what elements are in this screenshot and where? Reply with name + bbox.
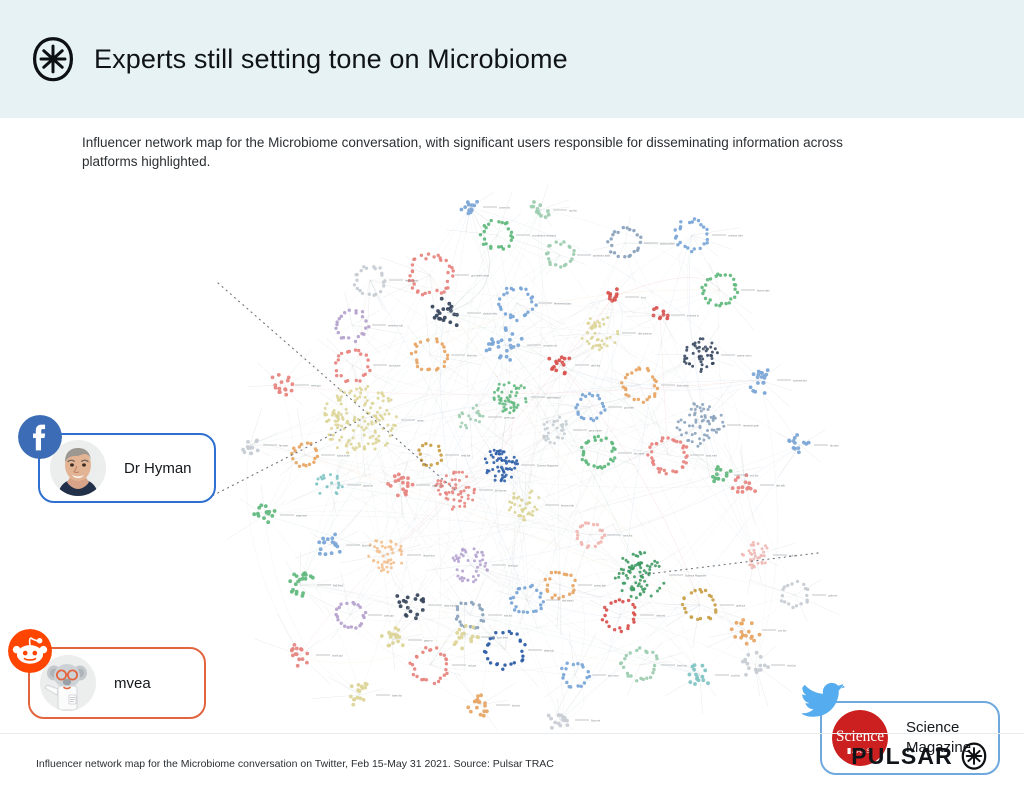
svg-text:spice.route: spice.route bbox=[337, 454, 350, 458]
page-header: Experts still setting tone on Microbiome bbox=[0, 0, 1024, 118]
svg-text:pale.net: pale.net bbox=[828, 594, 838, 598]
footer-logo: PULSAR bbox=[851, 742, 988, 770]
callout-label-mvea: mvea bbox=[114, 674, 151, 693]
svg-text:paleo.net: paleo.net bbox=[432, 484, 443, 488]
svg-text:south.gut: south.gut bbox=[332, 654, 343, 658]
svg-text:eco.bio: eco.bio bbox=[750, 474, 759, 478]
svg-text:nature.micro: nature.micro bbox=[737, 354, 752, 358]
avatar-koala-mvea bbox=[40, 655, 96, 711]
svg-text:diet.science: diet.science bbox=[638, 332, 652, 336]
svg-text:floor.net: floor.net bbox=[591, 719, 601, 723]
svg-text:pubmed.bot: pubmed.bot bbox=[793, 379, 807, 383]
svg-text:pro.biome: pro.biome bbox=[389, 364, 401, 368]
twitter-bird-icon bbox=[798, 677, 850, 725]
svg-text:base.bio: base.bio bbox=[392, 694, 402, 698]
svg-text:gold.gut: gold.gut bbox=[736, 604, 746, 608]
svg-text:west.gut: west.gut bbox=[311, 384, 321, 388]
svg-text:far.west: far.west bbox=[279, 444, 288, 448]
svg-text:plant.based: plant.based bbox=[547, 396, 561, 400]
svg-text:grain.io: grain.io bbox=[424, 639, 433, 643]
facebook-icon bbox=[18, 415, 62, 459]
svg-text:bio.news: bio.news bbox=[634, 452, 645, 456]
svg-text:grey.matter: grey.matter bbox=[589, 429, 602, 433]
svg-text:probiotics.daily: probiotics.daily bbox=[593, 254, 611, 258]
svg-text:corn.feed: corn.feed bbox=[497, 636, 508, 640]
svg-text:recipe.box: recipe.box bbox=[423, 554, 436, 558]
svg-text:mist.bio: mist.bio bbox=[787, 664, 796, 668]
svg-text:red.gut: red.gut bbox=[468, 664, 476, 668]
svg-text:vit.d: vit.d bbox=[641, 296, 646, 300]
network-cluster-labels: microbiome.researchgut.health.newsprobio… bbox=[263, 206, 839, 723]
svg-text:data.micro: data.micro bbox=[444, 604, 457, 608]
svg-text:vital.red: vital.red bbox=[656, 614, 666, 618]
svg-text:ferment.lab: ferment.lab bbox=[561, 504, 575, 508]
svg-text:trial.watch: trial.watch bbox=[562, 599, 574, 603]
svg-text:nutrition.wire: nutrition.wire bbox=[728, 234, 743, 238]
svg-text:Science Magazine: Science Magazine bbox=[537, 464, 559, 468]
svg-text:far.east: far.east bbox=[830, 444, 839, 448]
svg-text:fiber.first: fiber.first bbox=[467, 354, 477, 358]
footer-caption: Influencer network map for the Microbiom… bbox=[36, 758, 554, 770]
svg-text:fresh.bio: fresh.bio bbox=[677, 664, 688, 668]
svg-text:biome.labs: biome.labs bbox=[757, 289, 770, 293]
svg-text:rose.bio: rose.bio bbox=[623, 534, 633, 538]
svg-text:research.gate: research.gate bbox=[743, 424, 759, 428]
reddit-icon bbox=[8, 629, 52, 673]
svg-text:clinical.trials: clinical.trials bbox=[483, 312, 498, 316]
svg-text:deep.bio: deep.bio bbox=[544, 649, 555, 653]
svg-text:keto.circle: keto.circle bbox=[677, 384, 689, 388]
svg-text:top.bio: top.bio bbox=[569, 209, 577, 213]
svg-text:stat.bio: stat.bio bbox=[504, 614, 513, 618]
svg-text:microbiome.research: microbiome.research bbox=[532, 234, 557, 238]
svg-text:Dr Hyman: Dr Hyman bbox=[495, 489, 507, 493]
svg-text:Science Magazine: Science Magazine bbox=[685, 574, 707, 578]
svg-text:mind.gut: mind.gut bbox=[508, 564, 518, 568]
svg-text:herb.lab: herb.lab bbox=[461, 454, 471, 458]
svg-text:science.feed: science.feed bbox=[660, 242, 675, 246]
svg-text:blue.bio: blue.bio bbox=[362, 544, 372, 548]
svg-text:fermented.fans: fermented.fans bbox=[554, 302, 572, 306]
svg-text:calm.gut: calm.gut bbox=[384, 614, 394, 618]
svg-text:health.desk: health.desk bbox=[405, 279, 419, 283]
callout-card-dr-hyman[interactable]: Dr Hyman bbox=[38, 433, 216, 503]
svg-text:sun.bio: sun.bio bbox=[778, 629, 787, 633]
page-title: Experts still setting tone on Microbiome bbox=[94, 44, 568, 75]
callout-label-dr-hyman: Dr Hyman bbox=[124, 459, 192, 478]
subtitle-text: Influencer network map for the Microbiom… bbox=[82, 133, 872, 171]
pulsar-wordmark: PULSAR bbox=[851, 743, 953, 770]
network-graph: microbiome.researchgut.health.newsprobio… bbox=[0, 185, 1024, 730]
svg-text:crown.bio: crown.bio bbox=[499, 206, 511, 210]
svg-text:amber.lab: amber.lab bbox=[594, 584, 606, 588]
svg-text:leaf.feed: leaf.feed bbox=[333, 584, 344, 588]
svg-text:low.bio: low.bio bbox=[512, 704, 520, 708]
svg-text:microbes.uk: microbes.uk bbox=[543, 344, 558, 348]
svg-text:alert.bio: alert.bio bbox=[591, 364, 601, 368]
svg-text:mvea: mvea bbox=[417, 420, 424, 423]
callout-card-mvea[interactable]: mvea bbox=[28, 647, 206, 719]
svg-text:green.gut: green.gut bbox=[504, 416, 515, 420]
svg-text:wellness.hub: wellness.hub bbox=[388, 324, 404, 328]
svg-text:cool.bio: cool.bio bbox=[731, 674, 740, 678]
footer-divider bbox=[0, 733, 1024, 734]
svg-text:sky.micro: sky.micro bbox=[608, 674, 619, 678]
header-inner: Experts still setting tone on Microbiome bbox=[30, 36, 568, 82]
svg-text:diet.talk: diet.talk bbox=[776, 484, 786, 488]
callout-label-line1: Science bbox=[906, 718, 971, 738]
svg-text:gut.brain: gut.brain bbox=[624, 406, 635, 410]
pulsar-asterisk-icon bbox=[960, 742, 988, 770]
svg-text:edge.leaf: edge.leaf bbox=[296, 514, 307, 518]
svg-text:aqua.bio: aqua.bio bbox=[363, 484, 374, 488]
svg-text:food.med: food.med bbox=[706, 454, 717, 458]
svg-text:immune.io: immune.io bbox=[687, 314, 700, 318]
pulsar-asterisk-icon bbox=[30, 36, 76, 82]
svg-text:gut.health.news: gut.health.news bbox=[471, 274, 490, 278]
